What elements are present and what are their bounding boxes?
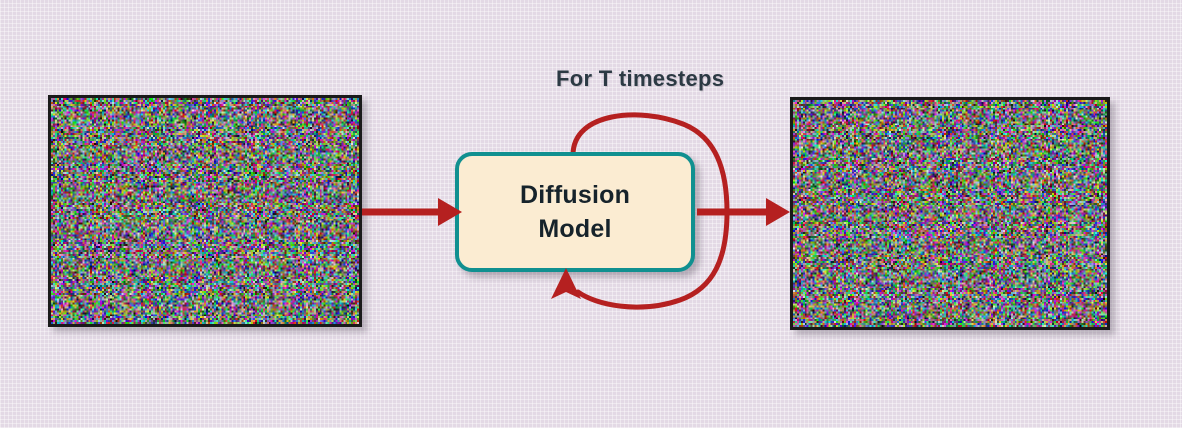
output-arrow-head bbox=[766, 198, 790, 226]
diffusion-model-label-line2: Model bbox=[520, 212, 630, 246]
diffusion-model-box[interactable]: Diffusion Model bbox=[455, 152, 695, 272]
input-noise-canvas bbox=[51, 98, 359, 324]
input-noise-image bbox=[48, 95, 362, 327]
loop-caption: For T timesteps bbox=[556, 66, 724, 92]
input-arrow bbox=[362, 198, 462, 226]
diffusion-model-label-line1: Diffusion bbox=[520, 178, 630, 212]
diffusion-model-label: Diffusion Model bbox=[520, 178, 630, 246]
output-arrow bbox=[697, 198, 790, 226]
output-noise-image bbox=[790, 97, 1110, 330]
diagram-canvas: Diffusion Model For T timesteps bbox=[0, 0, 1182, 428]
output-noise-canvas bbox=[793, 100, 1107, 327]
feedback-loop-arrow-head bbox=[551, 268, 581, 299]
